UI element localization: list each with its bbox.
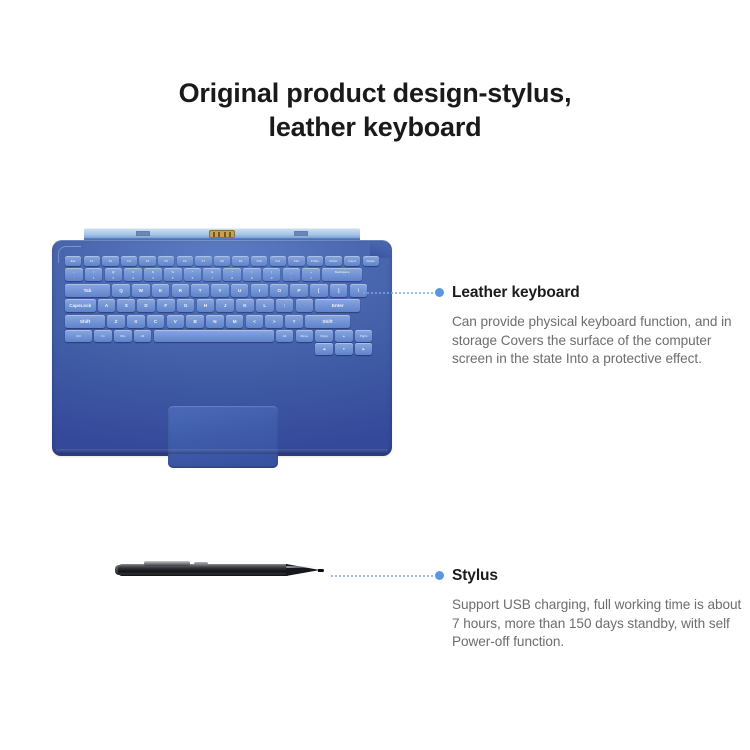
key-esc: Esc [65, 256, 81, 266]
key-z: Z [107, 315, 125, 328]
key-k: K [236, 299, 254, 312]
leader-line-keyboard [362, 288, 444, 297]
key-pgup: PgUp [315, 330, 333, 342]
key-delete: Delete [363, 256, 379, 266]
key-9: (9 [243, 268, 261, 281]
hinge-port-right-icon [294, 231, 308, 236]
key-arrow-up: ▲ [335, 330, 353, 342]
key-f8: F8 [214, 256, 230, 266]
key-scrlk: PrtScr [325, 256, 341, 266]
key-equals: += [302, 268, 320, 281]
callout-heading-stylus: Stylus [452, 566, 750, 585]
key-v: V [167, 315, 185, 328]
key-quote [296, 299, 314, 312]
key-alt-left: Alt [134, 330, 152, 342]
key-b: B [186, 315, 204, 328]
key-fn: Fn [94, 330, 112, 342]
key-t: T [191, 284, 209, 297]
key-m: M [226, 315, 244, 328]
key-f10: F10 [251, 256, 267, 266]
key-1: !1 [85, 268, 103, 281]
key-w: W [132, 284, 150, 297]
key-u: U [231, 284, 249, 297]
key-ctrl-left: Ctrl [65, 330, 92, 342]
key-5: %5 [164, 268, 182, 281]
key-row-function: Esc F1 F2 F3 F4 F5 F6 F7 F8 F9 F10 F11 F… [65, 256, 379, 266]
key-a: A [98, 299, 116, 312]
key-slash: ? [285, 315, 303, 328]
key-arrow-right: ▶ [355, 343, 373, 355]
key-y: Y [211, 284, 229, 297]
key-shift-left: Shift [65, 315, 105, 328]
callout-stylus: Stylus Support USB charging, full workin… [452, 566, 750, 652]
page-title-line-2: leather keyboard [0, 110, 750, 144]
key-i: I [251, 284, 269, 297]
keyboard-key-deck: Esc F1 F2 F3 F4 F5 F6 F7 F8 F9 F10 F11 F… [65, 256, 379, 358]
leader-dots-stylus [330, 575, 433, 577]
key-period: > [265, 315, 283, 328]
key-f6: F6 [177, 256, 193, 266]
key-8: *8 [223, 268, 241, 281]
keyboard-product-image: Esc F1 F2 F3 F4 F5 F6 F7 F8 F9 F10 F11 F… [52, 228, 392, 456]
key-row-numbers: ~` !1 @2 #3 $4 %5 ^6 &7 *8 (9 )0 _- += B… [65, 268, 379, 281]
key-r: R [172, 284, 190, 297]
key-d: D [137, 299, 155, 312]
key-shift-right: Shift [305, 315, 350, 328]
key-f12: F12 [288, 256, 304, 266]
key-row-home: CapsLock A S D F G H J K L : Enter [65, 299, 379, 312]
stylus-side-button [194, 562, 208, 566]
key-f4: F4 [139, 256, 155, 266]
stylus-tip [318, 569, 324, 572]
key-minus: _- [283, 268, 301, 281]
leader-knob-stylus [435, 571, 444, 580]
stylus-taper-highlight [286, 566, 316, 568]
key-f3: F3 [121, 256, 137, 266]
key-backspace: Backspace [322, 268, 362, 281]
callout-heading-leather-keyboard: Leather keyboard [452, 283, 750, 302]
leader-knob-keyboard [435, 288, 444, 297]
key-x: X [127, 315, 145, 328]
key-backtick: ~` [65, 268, 83, 281]
stylus-product-image [118, 556, 324, 586]
key-h: H [197, 299, 215, 312]
key-e: E [152, 284, 170, 297]
key-menu: Menu [296, 330, 314, 342]
page-title: Original product design-stylus, leather … [0, 76, 750, 144]
key-n: N [206, 315, 224, 328]
key-lbracket: [ [310, 284, 328, 297]
key-arrow-left: ◀ [315, 343, 333, 355]
key-tab: Tab [65, 284, 110, 297]
product-feature-page: Original product design-stylus, leather … [0, 0, 750, 750]
hinge-port-left-icon [136, 231, 150, 236]
stylus-clip [144, 561, 190, 566]
callout-body-leather-keyboard: Can provide physical keyboard function, … [452, 313, 750, 369]
key-f7: F7 [195, 256, 211, 266]
key-arrow-down: ▼ [335, 343, 353, 355]
key-4: $4 [144, 268, 162, 281]
key-p: P [290, 284, 308, 297]
callout-body-stylus: Support USB charging, full working time … [452, 596, 750, 652]
key-f11: F11 [270, 256, 286, 266]
key-0: )0 [263, 268, 281, 281]
key-7: &7 [203, 268, 221, 281]
keyboard-trackpad [168, 406, 278, 468]
key-row-qwerty: Tab Q W E R T Y U I O P [ ] \ [65, 284, 379, 297]
stylus-barrel [118, 564, 288, 576]
callout-leather-keyboard: Leather keyboard Can provide physical ke… [452, 283, 750, 369]
key-insert: Insert [344, 256, 360, 266]
key-j: J [216, 299, 234, 312]
leader-line-stylus [330, 571, 444, 580]
key-6: ^6 [184, 268, 202, 281]
hinge-connector-icon [209, 230, 235, 238]
key-prtscr: PrtScr [307, 256, 323, 266]
leader-dots-keyboard [362, 292, 433, 294]
key-l: L [256, 299, 274, 312]
key-2: @2 [105, 268, 123, 281]
keyboard-body: Esc F1 F2 F3 F4 F5 F6 F7 F8 F9 F10 F11 F… [52, 240, 392, 456]
key-f9: F9 [232, 256, 248, 266]
key-semicolon: : [276, 299, 294, 312]
arrow-key-cluster: PgUp ▲ PgDn ◀ ▼ ▶ [315, 330, 372, 355]
key-s: S [117, 299, 135, 312]
key-f1: F1 [84, 256, 100, 266]
key-comma: < [246, 315, 264, 328]
key-win: Win [114, 330, 132, 342]
key-pgdn: PgDn [355, 330, 373, 342]
key-o: O [270, 284, 288, 297]
page-title-line-1: Original product design-stylus, [0, 76, 750, 110]
key-f2: F2 [102, 256, 118, 266]
key-capslock: CapsLock [65, 299, 96, 312]
key-alt-right: Alt [276, 330, 294, 342]
key-3: #3 [124, 268, 142, 281]
key-f: F [157, 299, 175, 312]
key-g: G [177, 299, 195, 312]
key-q: Q [112, 284, 130, 297]
key-space [154, 330, 274, 342]
key-row-bottom-letters: Shift Z X C V B N M < > ? Shift [65, 315, 379, 328]
key-c: C [147, 315, 165, 328]
key-f5: F5 [158, 256, 174, 266]
key-row-modifiers: Ctrl Fn Win Alt Alt Menu PgUp ▲ PgDn [65, 330, 379, 355]
key-enter: Enter [315, 299, 360, 312]
key-rbracket: ] [330, 284, 348, 297]
